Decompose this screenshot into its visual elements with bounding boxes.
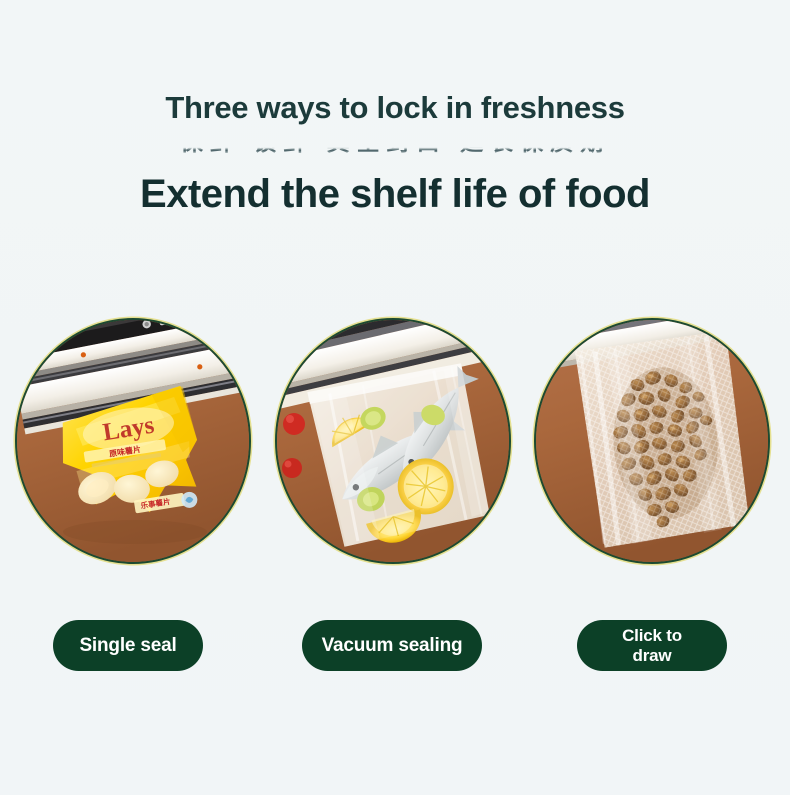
- button-single-seal[interactable]: Single seal: [53, 620, 203, 671]
- feature-vacuum-sealing[interactable]: [275, 318, 511, 564]
- button-click-to-draw-label: Click to draw: [622, 626, 682, 665]
- button-vacuum-sealing[interactable]: Vacuum sealing: [302, 620, 482, 671]
- button-vacuum-sealing-label: Vacuum sealing: [322, 635, 463, 657]
- feature-single-seal[interactable]: Lays 原味薯片 乐事薯片: [15, 318, 251, 564]
- promo-page: Three ways to lock in freshness 保鲜 锁鲜 真空…: [0, 0, 790, 795]
- page-title: Three ways to lock in freshness: [0, 92, 790, 123]
- feature-click-to-draw[interactable]: [534, 318, 770, 564]
- feature-image-vacuum-sealing[interactable]: [275, 318, 511, 564]
- feature-image-single-seal[interactable]: Lays 原味薯片 乐事薯片: [15, 318, 251, 564]
- ghost-text-strip: 保鲜 锁鲜 真空封口 延长保质期: [0, 140, 790, 170]
- feature-buttons-row: Single seal Vacuum sealing Click to draw: [0, 620, 790, 672]
- button-click-to-draw[interactable]: Click to draw: [577, 620, 727, 671]
- ghost-text: 保鲜 锁鲜 真空封口 延长保质期: [0, 140, 790, 157]
- button-single-seal-label: Single seal: [79, 635, 176, 657]
- feature-image-click-to-draw[interactable]: [534, 318, 770, 564]
- feature-circles-row: Lays 原味薯片 乐事薯片: [0, 318, 790, 566]
- page-subtitle: Extend the shelf life of food: [0, 174, 790, 214]
